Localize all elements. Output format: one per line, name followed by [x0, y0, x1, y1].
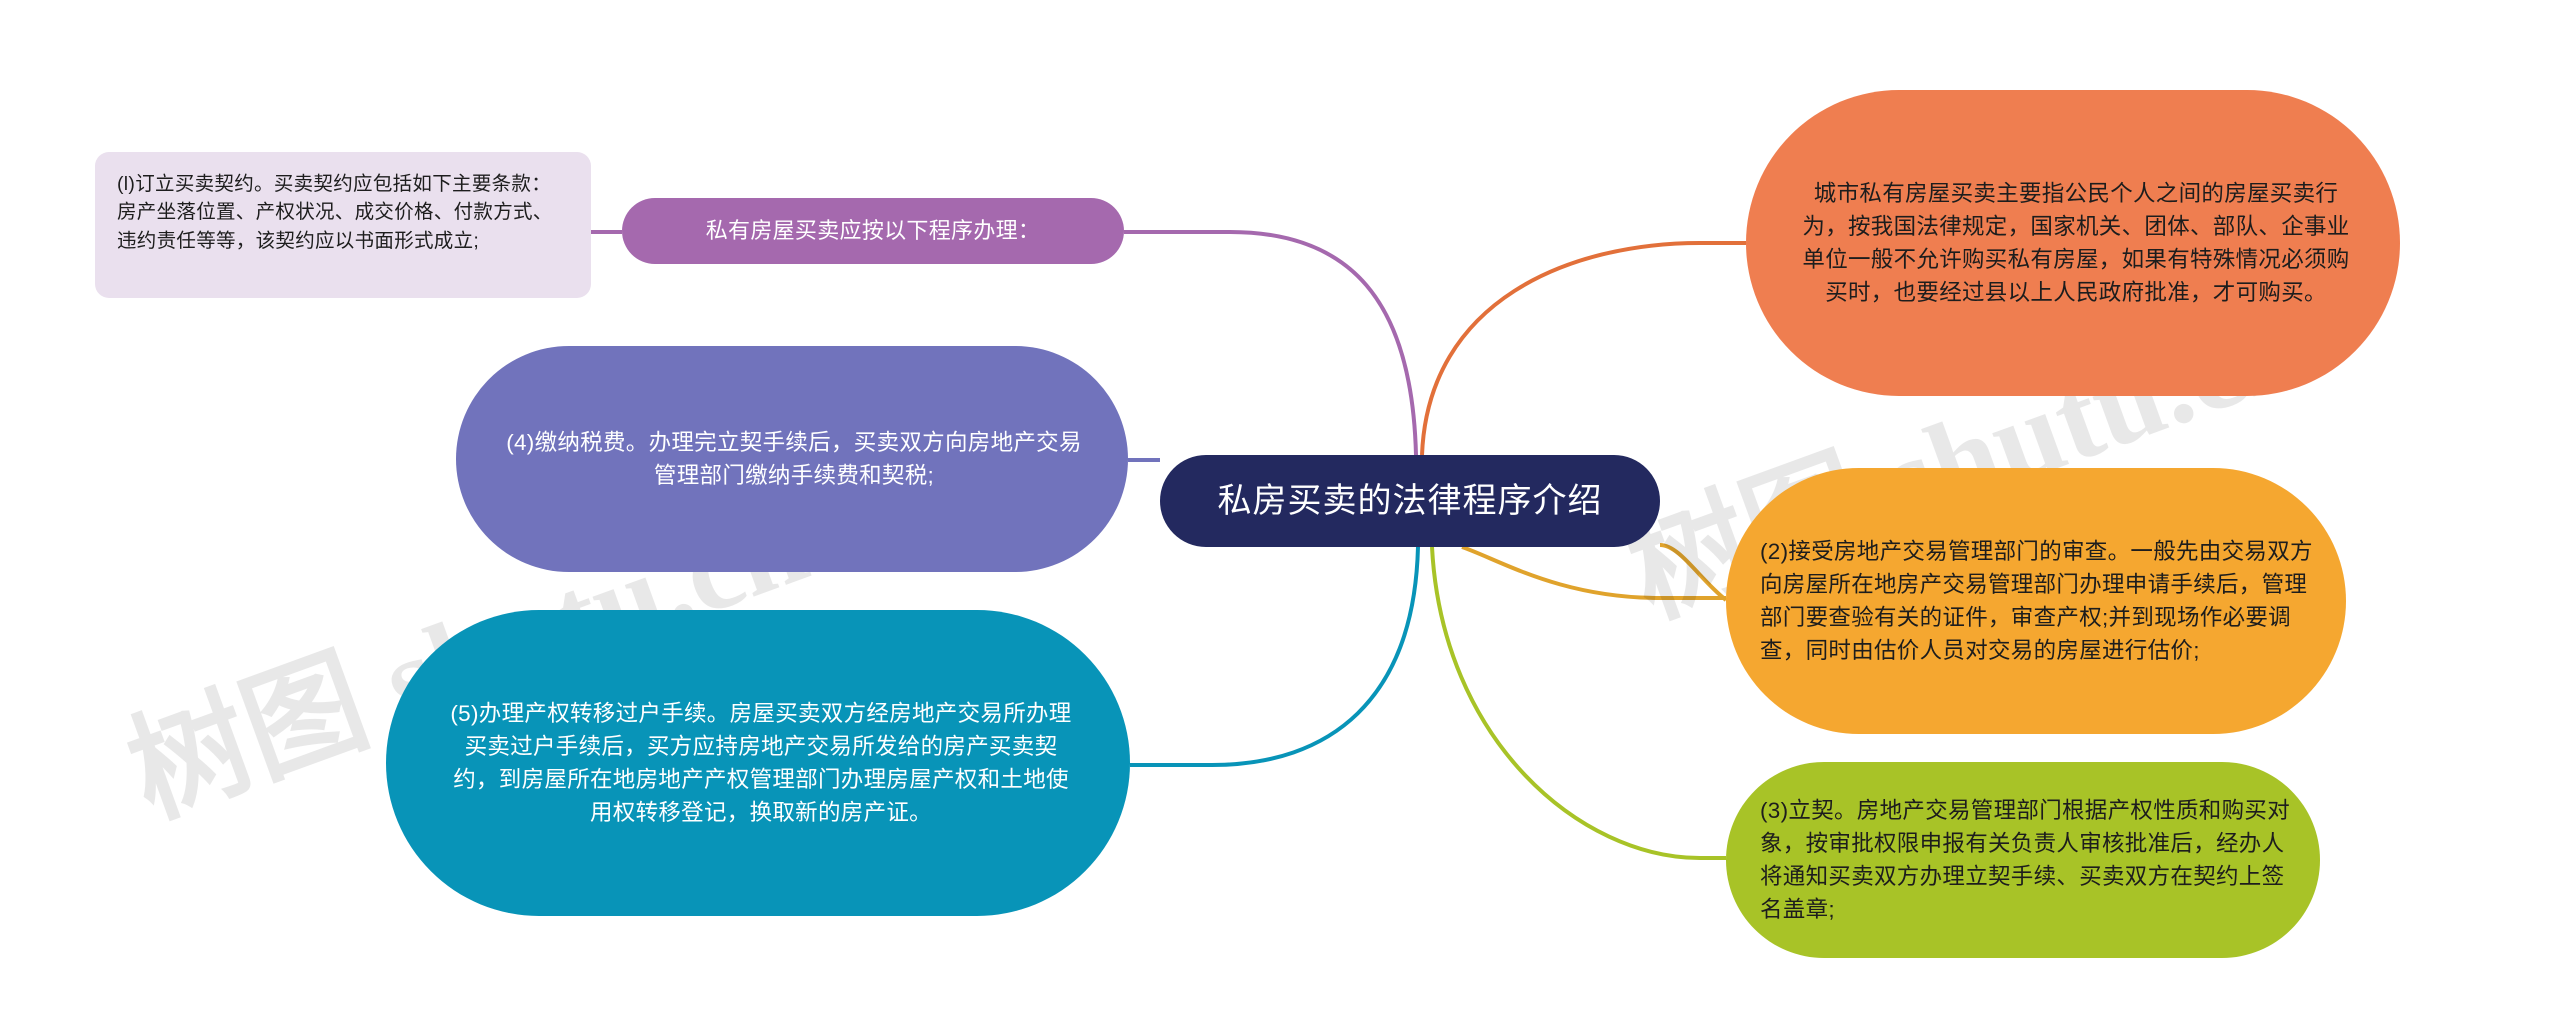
- edge-center-to-intro: [1422, 243, 1746, 455]
- node-step3[interactable]: (4)缴纳税费。办理完立契手续后，买卖双方向房地产交易管理部门缴纳手续费和契税;: [456, 346, 1128, 572]
- node-step5[interactable]: (5)办理产权转移过户手续。房屋买卖双方经房地产交易所办理买卖过户手续后，买方应…: [386, 610, 1130, 916]
- edge-center-to-step5: [1130, 547, 1418, 765]
- node-procedure[interactable]: 私有房屋买卖应按以下程序办理：: [622, 198, 1124, 264]
- edge-center-to-step4: [1432, 547, 1726, 858]
- node-procedure-label: 私有房屋买卖应按以下程序办理：: [648, 215, 1098, 246]
- node-step3-label: (4)缴纳税费。办理完立契手续后，买卖双方向房地产交易管理部门缴纳手续费和契税;: [500, 426, 1088, 492]
- node-intro[interactable]: 城市私有房屋买卖主要指公民个人之间的房屋买卖行为，按我国法律规定，国家机关、团体…: [1746, 90, 2400, 396]
- center-node-label: 私房买卖的法律程序介绍: [1160, 477, 1660, 525]
- center-node[interactable]: 私房买卖的法律程序介绍: [1160, 455, 1660, 547]
- edge-center-to-step2-arc: [1462, 547, 1726, 598]
- node-step4-label: (3)立契。房地产交易管理部门根据产权性质和购买对象，按审批权限申报有关负责人审…: [1760, 794, 2290, 926]
- node-step2[interactable]: (2)接受房地产交易管理部门的审查。一般先由交易双方向房屋所在地房产交易管理部门…: [1726, 468, 2346, 734]
- node-step2-label: (2)接受房地产交易管理部门的审查。一般先由交易双方向房屋所在地房产交易管理部门…: [1760, 535, 2316, 667]
- node-step5-label: (5)办理产权转移过户手续。房屋买卖双方经房地产交易所办理买卖过户手续后，买方应…: [442, 697, 1080, 829]
- node-clause[interactable]: (l)订立买卖契约。买卖契约应包括如下主要条款：房产坐落位置、产权状况、成交价格…: [95, 152, 591, 298]
- edge-center-to-step2: [1660, 545, 1726, 600]
- node-clause-label: (l)订立买卖契约。买卖契约应包括如下主要条款：房产坐落位置、产权状况、成交价格…: [117, 170, 569, 255]
- node-intro-label: 城市私有房屋买卖主要指公民个人之间的房屋买卖行为，按我国法律规定，国家机关、团体…: [1792, 177, 2360, 309]
- mindmap-canvas: 树图 shutu.cn 树图 shutu.cn (l)订立买卖契约。买卖契约应包…: [0, 0, 2560, 1013]
- node-step4[interactable]: (3)立契。房地产交易管理部门根据产权性质和购买对象，按审批权限申报有关负责人审…: [1726, 762, 2320, 958]
- edge-center-to-procedure: [1124, 232, 1416, 455]
